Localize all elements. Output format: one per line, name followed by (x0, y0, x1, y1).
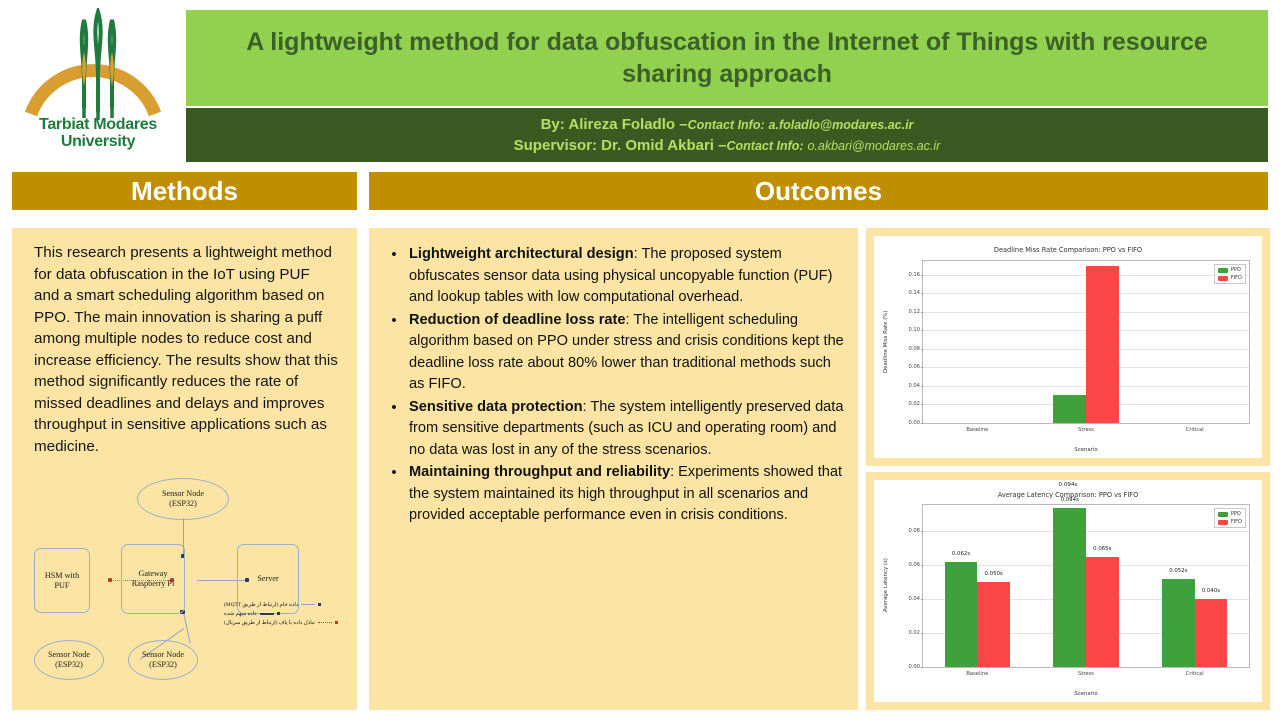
chart-ytick-label: 0.08 (908, 346, 920, 352)
diagram-node-gateway: Gateway Raspberry Pi (121, 544, 185, 614)
diagram-node-sensor-top-label: Sensor Node (ESP32) (162, 489, 204, 509)
diagram-legend-arrow-icon (318, 603, 321, 606)
author-line-main: By: Alireza Foladlo –Contact Info: a.fol… (541, 114, 914, 135)
diagram-node-sensor-bl-label: Sensor Node (ESP32) (48, 650, 90, 670)
chart-bar-fifo (1086, 557, 1119, 667)
chart-2-yaxis-label: Average Latency (s) (883, 558, 889, 612)
chart-2-plot-area: 0.000.020.040.060.08Baseline0.062s0.050s… (922, 504, 1250, 668)
outcomes-panel: •Lightweight architectural design: The p… (369, 228, 858, 710)
bullet-dot-icon: • (379, 310, 409, 396)
university-logo: Tarbiat Modares University (12, 8, 184, 160)
outcome-bullet-heading: Reduction of deadline loss rate (409, 312, 626, 328)
chart-ytick-label: 0.02 (908, 630, 920, 636)
diagram-legend-line-solid-icon (301, 604, 315, 605)
chart-legend-label: FIFO (1231, 275, 1242, 281)
chart-ytick-mark (921, 275, 923, 276)
diagram-node-sensor-top: Sensor Node (ESP32) (137, 478, 229, 520)
chart-1-yaxis-label: Deadline Miss Rate (%) (883, 310, 889, 373)
chart-ytick-mark (921, 531, 923, 532)
methods-section-banner: Methods (12, 172, 357, 210)
diagram-legend-row: داده خام (ارتباط از طریق MQTT) (224, 600, 352, 609)
methods-paragraph: This research presents a lightweight met… (34, 242, 338, 457)
logo-mark-icon (23, 8, 173, 120)
chart-ytick-label: 0.12 (908, 309, 920, 315)
chart-bar-value-label: 0.040s (1202, 588, 1220, 594)
chart-ytick-mark (921, 667, 923, 668)
chart-ytick-label: 0.10 (908, 327, 920, 333)
chart-xtick-label: Stress (1078, 427, 1094, 433)
author-contact-label: Contact Info: (688, 118, 765, 132)
bullet-dot-icon: • (379, 462, 409, 527)
author-email[interactable]: a.foladlo@modares.ac.ir (769, 118, 914, 132)
diagram-node-sensor-bottom-mid: Sensor Node (ESP32) (128, 640, 198, 680)
chart-ytick-mark (921, 293, 923, 294)
chart-ytick-label: 0.16 (908, 272, 920, 278)
chart-legend-label: PPO (1231, 267, 1241, 273)
diagram-legend-label: تبادل داده با پاف (ارتباط از طریق سریال) (224, 620, 315, 626)
chart-bar-value-label: 0.065s (1093, 546, 1111, 552)
author-name: By: Alireza Foladlo – (541, 116, 688, 133)
outcome-bullet-text: Maintaining throughput and reliability: … (409, 462, 849, 527)
outcome-bullet-heading: Lightweight architectural design (409, 246, 634, 262)
chart-1-xaxis-label: Scenario (922, 447, 1250, 453)
supervisor-name: Supervisor: Dr. Omid Akbari – (514, 137, 727, 154)
chart-ytick-label: 0.04 (908, 596, 920, 602)
diagram-legend-arrow-red-icon (335, 621, 338, 624)
outcomes-bullet-list: •Lightweight architectural design: The p… (379, 244, 849, 528)
outcome-bullet: •Reduction of deadline loss rate: The in… (379, 310, 849, 396)
chart-bar-ppo (1162, 579, 1195, 667)
outcome-bullet: •Lightweight architectural design: The p… (379, 244, 849, 309)
chart-bar-fifo (1195, 599, 1228, 667)
chart-legend: PPOFIFO (1214, 508, 1246, 528)
diagram-node-hsm-label: HSM with PUF (45, 571, 79, 591)
outcome-bullet-heading: Sensitive data protection (409, 399, 583, 415)
chart-legend-item: PPO (1218, 511, 1242, 517)
author-info-bar: By: Alireza Foladlo –Contact Info: a.fol… (186, 108, 1268, 162)
chart-ytick-label: 0.00 (908, 664, 920, 670)
chart-xtick-label: Critical (1186, 427, 1204, 433)
outcome-bullet: •Sensitive data protection: The system i… (379, 397, 849, 462)
chart-ytick-mark (921, 349, 923, 350)
chart-ytick-mark (921, 330, 923, 331)
methods-section-title: Methods (131, 176, 238, 207)
chart-ytick-label: 0.00 (908, 420, 920, 426)
chart-xtick-label: Baseline (966, 671, 988, 677)
outcome-bullet-text: Reduction of deadline loss rate: The int… (409, 310, 849, 396)
diagram-node-sensor-bottom-left: Sensor Node (ESP32) (34, 640, 104, 680)
chart-legend-item: FIFO (1218, 275, 1242, 281)
outcome-bullet: •Maintaining throughput and reliability:… (379, 462, 849, 527)
chart-2-xaxis-label: Scenario (922, 691, 1250, 697)
diagram-edge-sensor-bm (183, 612, 191, 644)
deadline-miss-rate-chart-card: Deadline Miss Rate Comparison: PPO vs FI… (866, 228, 1270, 466)
chart-gridline (923, 531, 1249, 532)
chart-legend-label: FIFO (1231, 519, 1242, 525)
chart-1-canvas: Deadline Miss Rate Comparison: PPO vs FI… (874, 236, 1262, 458)
diagram-legend-row: داده مبهم شده (224, 609, 352, 618)
chart-bar-ppo (945, 562, 978, 667)
diagram-node-gateway-label: Gateway Raspberry Pi (132, 569, 175, 589)
chart-ytick-label: 0.02 (908, 401, 920, 407)
chart-ytick-mark (921, 633, 923, 634)
logo-text: Tarbiat Modares University (12, 116, 184, 150)
chart-bar-value-label: 0.050s (985, 571, 1003, 577)
diagram-legend-line-thick-icon (260, 613, 274, 615)
chart-legend: PPOFIFO (1214, 264, 1246, 284)
chart-xtick-label: Stress (1078, 671, 1094, 677)
diagram-node-hsm: HSM with PUF (34, 548, 90, 613)
chart-ytick-mark (921, 404, 923, 405)
diagram-node-server-label: Server (257, 574, 278, 584)
outcomes-section-banner: Outcomes (369, 172, 1268, 210)
chart-ytick-mark (921, 565, 923, 566)
chart-2-canvas: 0.094s Average Latency Comparison: PPO v… (874, 480, 1262, 702)
chart-ytick-label: 0.06 (908, 562, 920, 568)
author-line-supervisor: Supervisor: Dr. Omid Akbari –Contact Inf… (514, 135, 941, 156)
chart-legend-swatch-icon (1218, 276, 1228, 281)
chart-legend-item: FIFO (1218, 519, 1242, 525)
chart-legend-swatch-icon (1218, 512, 1228, 517)
chart-2-overflow-label: 0.094s (874, 482, 1262, 488)
chart-1-title: Deadline Miss Rate Comparison: PPO vs FI… (874, 246, 1262, 254)
chart-bar-fifo (977, 582, 1010, 667)
chart-ytick-mark (921, 386, 923, 387)
average-latency-chart-card: 0.094s Average Latency Comparison: PPO v… (866, 472, 1270, 710)
poster-root: Tarbiat Modares University A lightweight… (0, 0, 1280, 720)
chart-bar-value-label: 0.052s (1169, 568, 1187, 574)
tarbiat-modares-logo-icon (23, 8, 173, 120)
poster-title: A lightweight method for data obfuscatio… (212, 26, 1242, 90)
chart-ytick-label: 0.14 (908, 290, 920, 296)
chart-ytick-label: 0.04 (908, 383, 920, 389)
diagram-arrow-hsm-back (108, 578, 112, 582)
methods-panel: This research presents a lightweight met… (12, 228, 357, 710)
diagram-legend-row: تبادل داده با پاف (ارتباط از طریق سریال) (224, 618, 352, 627)
chart-bar-ppo (1053, 508, 1086, 667)
chart-bar-fifo (1086, 266, 1119, 423)
chart-1-plot-area: 0.000.020.040.060.080.100.120.140.16Base… (922, 260, 1250, 424)
chart-bar-value-label: 0.062s (952, 551, 970, 557)
poster-title-bar: A lightweight method for data obfuscatio… (186, 10, 1268, 106)
chart-bar-ppo (1053, 395, 1086, 423)
chart-ytick-mark (921, 367, 923, 368)
bullet-dot-icon: • (379, 244, 409, 309)
chart-bar-value-label: 0.094s (1061, 497, 1079, 503)
chart-ytick-label: 0.08 (908, 528, 920, 534)
poster-header: Tarbiat Modares University A lightweight… (0, 0, 1280, 164)
diagram-legend-label: داده خام (ارتباط از طریق MQTT) (224, 602, 298, 608)
chart-legend-swatch-icon (1218, 268, 1228, 273)
architecture-diagram: Sensor Node (ESP32) HSM with PUF Gateway… (24, 460, 354, 700)
diagram-legend: داده خام (ارتباط از طریق MQTT) داده مبهم… (224, 600, 352, 627)
outcome-bullet-heading: Maintaining throughput and reliability (409, 464, 670, 480)
logo-text-line2: University (12, 133, 184, 150)
chart-ytick-mark (921, 599, 923, 600)
supervisor-email[interactable]: o.akbari@modares.ac.ir (807, 139, 940, 153)
diagram-legend-label: داده مبهم شده (224, 611, 257, 617)
chart-ytick-mark (921, 423, 923, 424)
supervisor-contact-label: Contact Info: (726, 139, 803, 153)
chart-legend-swatch-icon (1218, 520, 1228, 525)
chart-legend-label: PPO (1231, 511, 1241, 517)
chart-ytick-mark (921, 312, 923, 313)
chart-legend-item: PPO (1218, 267, 1242, 273)
bullet-dot-icon: • (379, 397, 409, 462)
chart-xtick-label: Baseline (966, 427, 988, 433)
diagram-node-sensor-bm-label: Sensor Node (ESP32) (142, 650, 184, 670)
diagram-legend-arrow-icon (277, 612, 280, 615)
outcomes-section-title: Outcomes (755, 176, 882, 207)
chart-xtick-label: Critical (1186, 671, 1204, 677)
outcome-bullet-text: Lightweight architectural design: The pr… (409, 244, 849, 309)
diagram-legend-line-dotted-icon (318, 622, 332, 623)
chart-ytick-label: 0.06 (908, 364, 920, 370)
outcome-bullet-text: Sensitive data protection: The system in… (409, 397, 849, 462)
